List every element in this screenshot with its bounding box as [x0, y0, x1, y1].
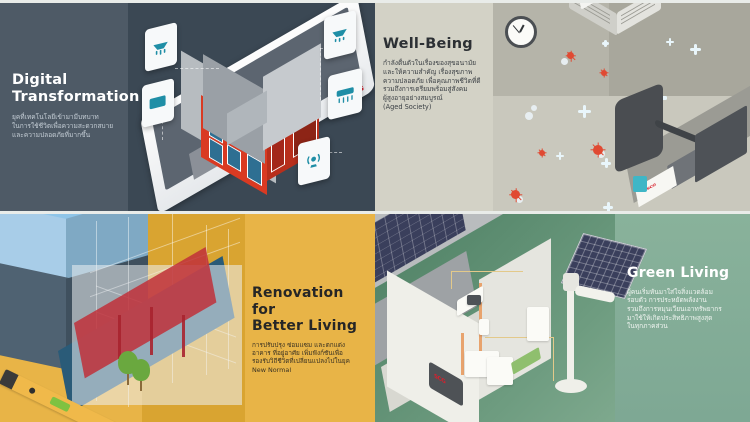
tree-trunk [140, 381, 142, 391]
panel3-body: การปรับปรุง ซ่อมแซม และตกแต่ง อาคาร ที่อ… [252, 341, 370, 375]
clock-hour-hand [519, 25, 524, 33]
panel2-title: Well-Being [383, 36, 495, 53]
panel2-body-line5: ผู้สูงอายุอย่างสมบูรณ์ [383, 94, 495, 103]
panel2-body-line1: กำลังตื่นตัวในเรื่องของสุขอนามัย [383, 59, 495, 68]
panel1-top-divider [0, 0, 375, 3]
purifier-face-left [569, 0, 617, 36]
panel4-body: ผู้คนเริ่มหันมาใส่ใจสิ่งแวดล้อม รอบตัว ก… [627, 288, 741, 332]
clean-air-plus-icon [666, 38, 674, 46]
tree-trunk [127, 374, 129, 385]
tree-illustration [132, 359, 150, 391]
panel4-body-line2: รอบตัว การประหยัดพลังงาน [627, 296, 741, 305]
ceiling-air-purifier [563, 0, 669, 38]
virus-particle [539, 150, 545, 156]
virus-particle [601, 70, 607, 76]
panel-digital-transformation[interactable]: SCG [0, 0, 375, 211]
panel2-body-line3: ความปลอดภัย เพื่อคุณภาพชีวิตที่ดี [383, 77, 495, 86]
panel2-top-divider [375, 0, 750, 3]
tree-crown [132, 359, 150, 381]
smoke-detector-icon[interactable] [324, 10, 356, 60]
floorplan-wall [182, 315, 185, 357]
panel4-body-line4: มาใช้ให้เกิดประสิทธิภาพสูงสุด [627, 314, 741, 323]
street-lamp-base [555, 379, 587, 393]
solar-wire [553, 337, 554, 381]
wall-clock-icon [505, 16, 537, 48]
ruler-end-cap [0, 369, 19, 390]
wifi-router-icon[interactable] [298, 136, 330, 186]
ruler-bubble [28, 387, 36, 395]
panel4-title: Green Living [627, 265, 741, 282]
panel4-text-block: Green Living ผู้คนเริ่มหันมาใส่ใจสิ่งแวด… [627, 265, 741, 331]
connector-line [320, 48, 321, 100]
four-panel-infographic-board: SCG [0, 0, 750, 422]
panel2-text-block: Well-Being กำลังตื่นตัวในเรื่องของสุขอนา… [383, 36, 495, 111]
virus-particle [567, 52, 574, 59]
panel-well-being[interactable]: SCG Well-Being กำลังตื่นตัวในเรื่องของสุ… [375, 0, 750, 211]
panel2-title-line1: Well-Being [383, 36, 495, 53]
panel3-top-divider [0, 211, 375, 214]
panel-renovation-for-better-living[interactable]: Renovation for Better Living การปรับปรุง… [0, 211, 375, 422]
plumbing-pipe [461, 333, 464, 375]
panel1-body-line2: ในการใช้ชีวิตเพื่อความสะดวกสบาย [12, 122, 132, 131]
panel2-body: กำลังตื่นตัวในเรื่องของสุขอนามัย และให้ค… [383, 59, 495, 111]
security-camera-icon[interactable] [145, 22, 177, 72]
panel1-title-line2: Transformation [12, 89, 132, 106]
clean-air-plus-icon [578, 105, 591, 118]
panel2-body-line6: (Aged Society) [383, 103, 495, 112]
panel2-body-line4: รวมถึงการเตรียมพร้อมสู่สังคม [383, 85, 495, 94]
virus-particle [511, 190, 520, 199]
floorplan-wall [150, 307, 153, 355]
panel2-body-line2: และให้ความสำคัญ เรื่องสุขภาพ [383, 68, 495, 77]
panel4-title-line1: Green Living [627, 265, 741, 282]
smart-tv-icon[interactable]: TV [142, 78, 174, 128]
panel4-body-line3: รวมถึงการหมุนเวียนเอาทรัพยากร [627, 305, 741, 314]
clean-air-plus-icon [601, 158, 611, 168]
panel3-title-line2: Better Living [252, 318, 370, 335]
purifier-vent [621, 0, 655, 21]
scg-logo-panel2: SCG [647, 183, 657, 192]
panel-green-living[interactable]: SCG Green Living ผู้คนเริ่มหันมาใส่ใจสิ่… [375, 211, 750, 422]
purifier-face-right [617, 0, 661, 35]
panel3-body-line1: การปรับปรุง ซ่อมแซม และตกแต่ง [252, 341, 370, 349]
panel4-body-line5: ในทุกภาคส่วน [627, 322, 741, 331]
panel1-text-block: Digital Transformation ยุคที่เทคโนโลยีเข… [12, 72, 132, 139]
panel3-body-line4: New Normal [252, 366, 370, 374]
virus-particle [593, 145, 603, 155]
panel1-body-line1: ยุคที่เทคโนโลยีเข้ามามีบทบาท [12, 113, 132, 122]
panel3-body-line3: รองรับวิถีชีวิตที่เปลี่ยนแปลงไปในยุค [252, 357, 370, 365]
panel3-title: Renovation for Better Living [252, 285, 370, 335]
air-bubble [531, 105, 537, 111]
panel3-text-block: Renovation for Better Living การปรับปรุง… [252, 285, 370, 374]
water-heater [479, 319, 489, 335]
air-bubble [561, 58, 568, 65]
street-lamp-post [567, 277, 574, 387]
desk-cup [633, 176, 647, 192]
panel3-title-line1: Renovation for [252, 285, 370, 318]
clean-air-plus-icon [602, 40, 609, 47]
air-conditioner-icon[interactable] [328, 68, 362, 120]
desktop-monitor [467, 295, 481, 305]
ruler-level-vial [49, 396, 70, 412]
panel4-top-divider [375, 211, 750, 214]
solar-wire [451, 271, 452, 289]
washing-machine [487, 357, 513, 385]
connector-line [175, 68, 219, 69]
panel4-body-line1: ผู้คนเริ่มหันมาใส่ใจสิ่งแวดล้อม [627, 288, 741, 297]
panel1-title: Digital Transformation [12, 72, 132, 106]
clean-air-plus-icon [556, 152, 564, 160]
inverter-unit [527, 307, 549, 341]
panel1-body-line3: และความปลอดภัยที่มากขึ้น [12, 131, 132, 140]
scg-logo-panel4: SCG [434, 373, 445, 386]
clean-air-plus-icon [690, 44, 701, 55]
clean-air-plus-icon [603, 202, 613, 211]
air-bubble [525, 112, 533, 120]
panel1-title-line1: Digital [12, 72, 132, 89]
clock-minute-hand [513, 24, 520, 32]
panel1-body: ยุคที่เทคโนโลยีเข้ามามีบทบาท ในการใช้ชีว… [12, 113, 132, 139]
solar-wire [451, 271, 523, 272]
